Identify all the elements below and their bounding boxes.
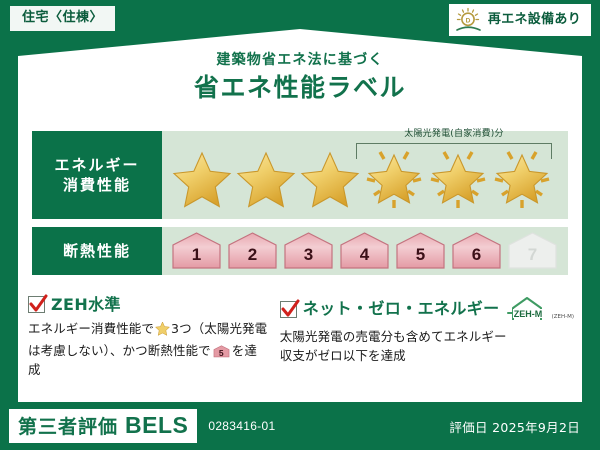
renewable-badge-label: 再エネ設備あり xyxy=(488,13,581,27)
net-zero-criterion-body: 太陽光発電の売電分も含めてエネルギー 収支がゼロ以下を達成 xyxy=(280,327,574,366)
house-type-badge: 住宅〈住棟〉 xyxy=(10,6,115,31)
insulation-level-scale: 1 2 3 xyxy=(162,227,568,275)
insulation-level-badge: 3 xyxy=(282,231,335,271)
energy-performance-label-line2: 消費性能 xyxy=(63,175,131,195)
star-filled xyxy=(298,143,362,215)
insulation-level-number: 3 xyxy=(304,246,313,271)
label-subtitle: 建築物省エネ法に基づく xyxy=(0,52,600,69)
energy-performance-row: エネルギー 消費性能 太陽光発電(自家消費)分 xyxy=(32,131,568,219)
net-zero-body-line1: 太陽光発電の売電分も含めてエネルギー xyxy=(280,327,574,346)
insulation-level-number: 5 xyxy=(416,246,425,271)
label-main-title: 省エネ性能ラベル xyxy=(0,72,600,103)
energy-performance-label-line1: エネルギー xyxy=(54,155,139,175)
insulation-level-number: 4 xyxy=(360,246,369,271)
criteria-section: ZEH水準 エネルギー消費性能で3つ（太陽光発電は考慮しない）、かつ断熱性能で5… xyxy=(28,296,574,380)
net-zero-criterion-title: ネット・ゼロ・エネルギー xyxy=(303,300,500,318)
zeh-criterion-header: ZEH水準 xyxy=(28,296,268,314)
insulation-level-badge: 1 xyxy=(170,231,223,271)
solar-bracket xyxy=(356,143,552,159)
zeh-criterion-title: ZEH水準 xyxy=(51,296,121,314)
inline-star-icon xyxy=(155,324,170,339)
svg-text:ZEH-M: ZEH-M xyxy=(513,309,542,319)
solar-bracket-label: 太陽光発電(自家消費)分 xyxy=(356,129,552,140)
insulation-level-number: 1 xyxy=(192,246,201,271)
star-filled xyxy=(170,143,234,215)
label-title-block: 建築物省エネ法に基づく 省エネ性能ラベル xyxy=(0,52,600,103)
performance-rows: エネルギー 消費性能 太陽光発電(自家消費)分 xyxy=(32,131,568,283)
net-zero-criterion-header: ネット・ゼロ・エネルギー ZEH-M (ZEH-M) xyxy=(280,296,574,322)
energy-performance-value-panel: 太陽光発電(自家消費)分 xyxy=(162,131,568,219)
insulation-level-badge: 4 xyxy=(338,231,391,271)
zeh-m-mark: ZEH-M (ZEH-M) xyxy=(507,296,574,322)
zeh-criterion-body: エネルギー消費性能で3つ（太陽光発電は考慮しない）、かつ断熱性能で5を達成 xyxy=(28,319,268,380)
star-filled xyxy=(234,143,298,215)
zeh-criterion: ZEH水準 エネルギー消費性能で3つ（太陽光発電は考慮しない）、かつ断熱性能で5… xyxy=(28,296,268,380)
insulation-performance-value-panel: 1 2 3 xyxy=(162,227,568,275)
svg-text:D: D xyxy=(466,17,471,24)
footer-bar: 第三者評価 BELS 0283416-01 評価日 2025年9月2日 xyxy=(0,402,600,450)
bels-logo-text: BELS xyxy=(125,413,188,438)
insulation-level-number: 7 xyxy=(528,246,537,271)
bels-chip: 第三者評価 BELS xyxy=(9,409,197,443)
energy-performance-label: 住宅〈住棟〉 D 再エネ設備あり 建築物省エネ法に基づく xyxy=(0,0,600,450)
insulation-level-badge-inactive: 7 xyxy=(506,231,559,271)
zeh-body-part2: 3つ（太陽光発電 xyxy=(171,321,267,336)
inline-insulation-level-number: 5 xyxy=(213,349,230,358)
energy-performance-label-box: エネルギー 消費性能 xyxy=(32,131,162,219)
zeh-body-part3: は考慮しない）、かつ断熱性能で xyxy=(28,343,211,358)
insulation-level-badge: 6 xyxy=(450,231,503,271)
insulation-level-badge: 5 xyxy=(394,231,447,271)
third-party-evaluation-label: 第三者評価 xyxy=(18,417,118,438)
sun-renewable-icon: D xyxy=(454,7,484,33)
net-zero-criterion: ネット・ゼロ・エネルギー ZEH-M (ZEH-M) 太陽光発電の売電分も含めて… xyxy=(280,296,574,380)
net-zero-checkbox[interactable] xyxy=(280,301,297,318)
insulation-level-number: 6 xyxy=(472,246,481,271)
insulation-level-badge: 2 xyxy=(226,231,279,271)
certificate-number: 0283416-01 xyxy=(208,419,275,433)
zeh-m-mark-sublabel: (ZEH-M) xyxy=(552,315,574,323)
zeh-body-part1: エネルギー消費性能で xyxy=(28,321,154,336)
renewable-equipment-badge: D 再エネ設備あり xyxy=(449,4,591,36)
insulation-performance-row: 断熱性能 xyxy=(32,227,568,275)
insulation-performance-label-box: 断熱性能 xyxy=(32,227,162,275)
evaluation-date: 評価日 2025年9月2日 xyxy=(449,417,580,436)
insulation-level-number: 2 xyxy=(248,246,257,271)
net-zero-body-line2: 収支がゼロ以下を達成 xyxy=(280,346,574,365)
zeh-checkbox[interactable] xyxy=(28,296,45,313)
inline-insulation-level-icon: 5 xyxy=(213,344,230,359)
